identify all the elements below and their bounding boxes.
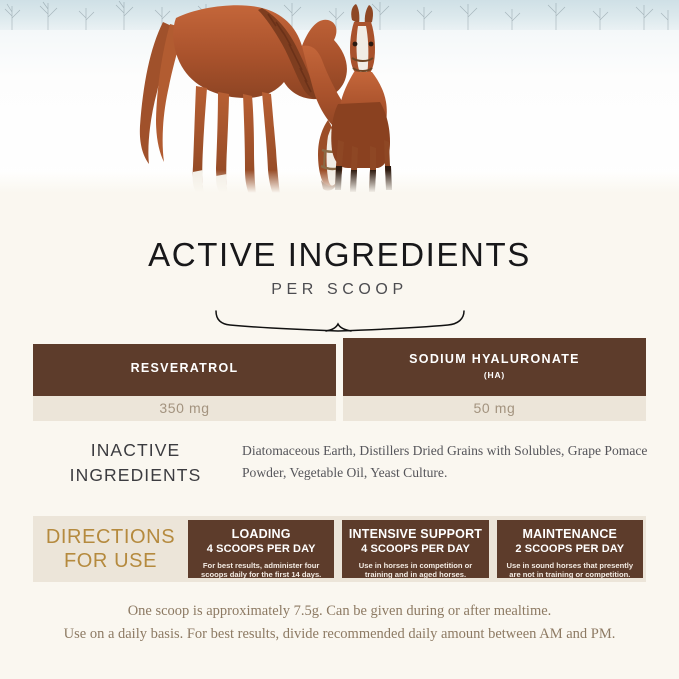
ingredient-header: SODIUM HYALURONATE (HA): [343, 338, 646, 396]
directions-for-use-bar: DIRECTIONS FOR USE LOADING 4 SCOOPS PER …: [33, 516, 646, 582]
mare: [140, 5, 356, 194]
ingredient-amount: 350 mg: [33, 396, 336, 421]
directions-cell-note: For best results, administer four scoops…: [193, 561, 329, 580]
inactive-ingredients-section: INACTIVE INGREDIENTS Diatomaceous Earth,…: [33, 432, 649, 489]
ingredient-name: RESVERATROL: [33, 362, 336, 376]
ingredient-header: RESVERATROL: [33, 344, 336, 396]
inactive-ingredients-text: Diatomaceous Earth, Distillers Dried Gra…: [238, 432, 649, 484]
foal: [331, 4, 392, 192]
page-title: ACTIVE INGREDIENTS: [0, 238, 679, 271]
directions-title: DIRECTIONS FOR USE: [33, 516, 188, 582]
footer-line-1: One scoop is approximately 7.5g. Can be …: [0, 600, 679, 623]
inactive-ingredients-label: INACTIVE INGREDIENTS: [33, 432, 238, 489]
active-ingredients-table: RESVERATROL 350 mg SODIUM HYALURONATE (H…: [33, 338, 646, 421]
title-block: ACTIVE INGREDIENTS PER SCOOP: [0, 238, 679, 333]
directions-cell-title: MAINTENANCE: [502, 527, 638, 541]
directions-cell-loading: LOADING 4 SCOOPS PER DAY For best result…: [188, 520, 334, 578]
product-label-page: ACTIVE INGREDIENTS PER SCOOP RESVERATROL…: [0, 0, 679, 679]
directions-cells: LOADING 4 SCOOPS PER DAY For best result…: [188, 516, 646, 582]
inactive-label-line-2: INGREDIENTS: [33, 463, 238, 488]
directions-cell-note: Use in horses in competition or training…: [347, 561, 483, 580]
active-ingredient-card-resveratrol: RESVERATROL 350 mg: [33, 338, 336, 421]
horses-illustration: [0, 0, 679, 196]
directions-cell-dose: 2 SCOOPS PER DAY: [502, 543, 638, 556]
directions-cell-dose: 4 SCOOPS PER DAY: [193, 543, 329, 556]
directions-cell-title: INTENSIVE SUPPORT: [347, 527, 483, 541]
directions-title-line-2: FOR USE: [64, 549, 157, 573]
inactive-label-line-1: INACTIVE: [33, 438, 238, 463]
hero-photo: [0, 0, 679, 196]
active-ingredient-card-sodium-hyaluronate: SODIUM HYALURONATE (HA) 50 mg: [343, 338, 646, 421]
directions-title-line-1: DIRECTIONS: [46, 525, 175, 549]
directions-cell-note: Use in sound horses that presently are n…: [502, 561, 638, 580]
ingredient-amount: 50 mg: [343, 396, 646, 421]
page-subtitle: PER SCOOP: [0, 281, 679, 299]
directions-cell-intensive-support: INTENSIVE SUPPORT 4 SCOOPS PER DAY Use i…: [342, 520, 488, 578]
photo-bottom-fade: [0, 170, 679, 196]
directions-cell-title: LOADING: [193, 527, 329, 541]
ingredient-abbreviation: (HA): [343, 370, 646, 380]
ingredient-name: SODIUM HYALURONATE: [343, 353, 646, 367]
directions-cell-maintenance: MAINTENANCE 2 SCOOPS PER DAY Use in soun…: [497, 520, 643, 578]
footer-note: One scoop is approximately 7.5g. Can be …: [0, 600, 679, 647]
curly-brace-icon: [214, 309, 466, 333]
directions-cell-dose: 4 SCOOPS PER DAY: [347, 543, 483, 556]
footer-line-2: Use on a daily basis. For best results, …: [0, 623, 679, 646]
